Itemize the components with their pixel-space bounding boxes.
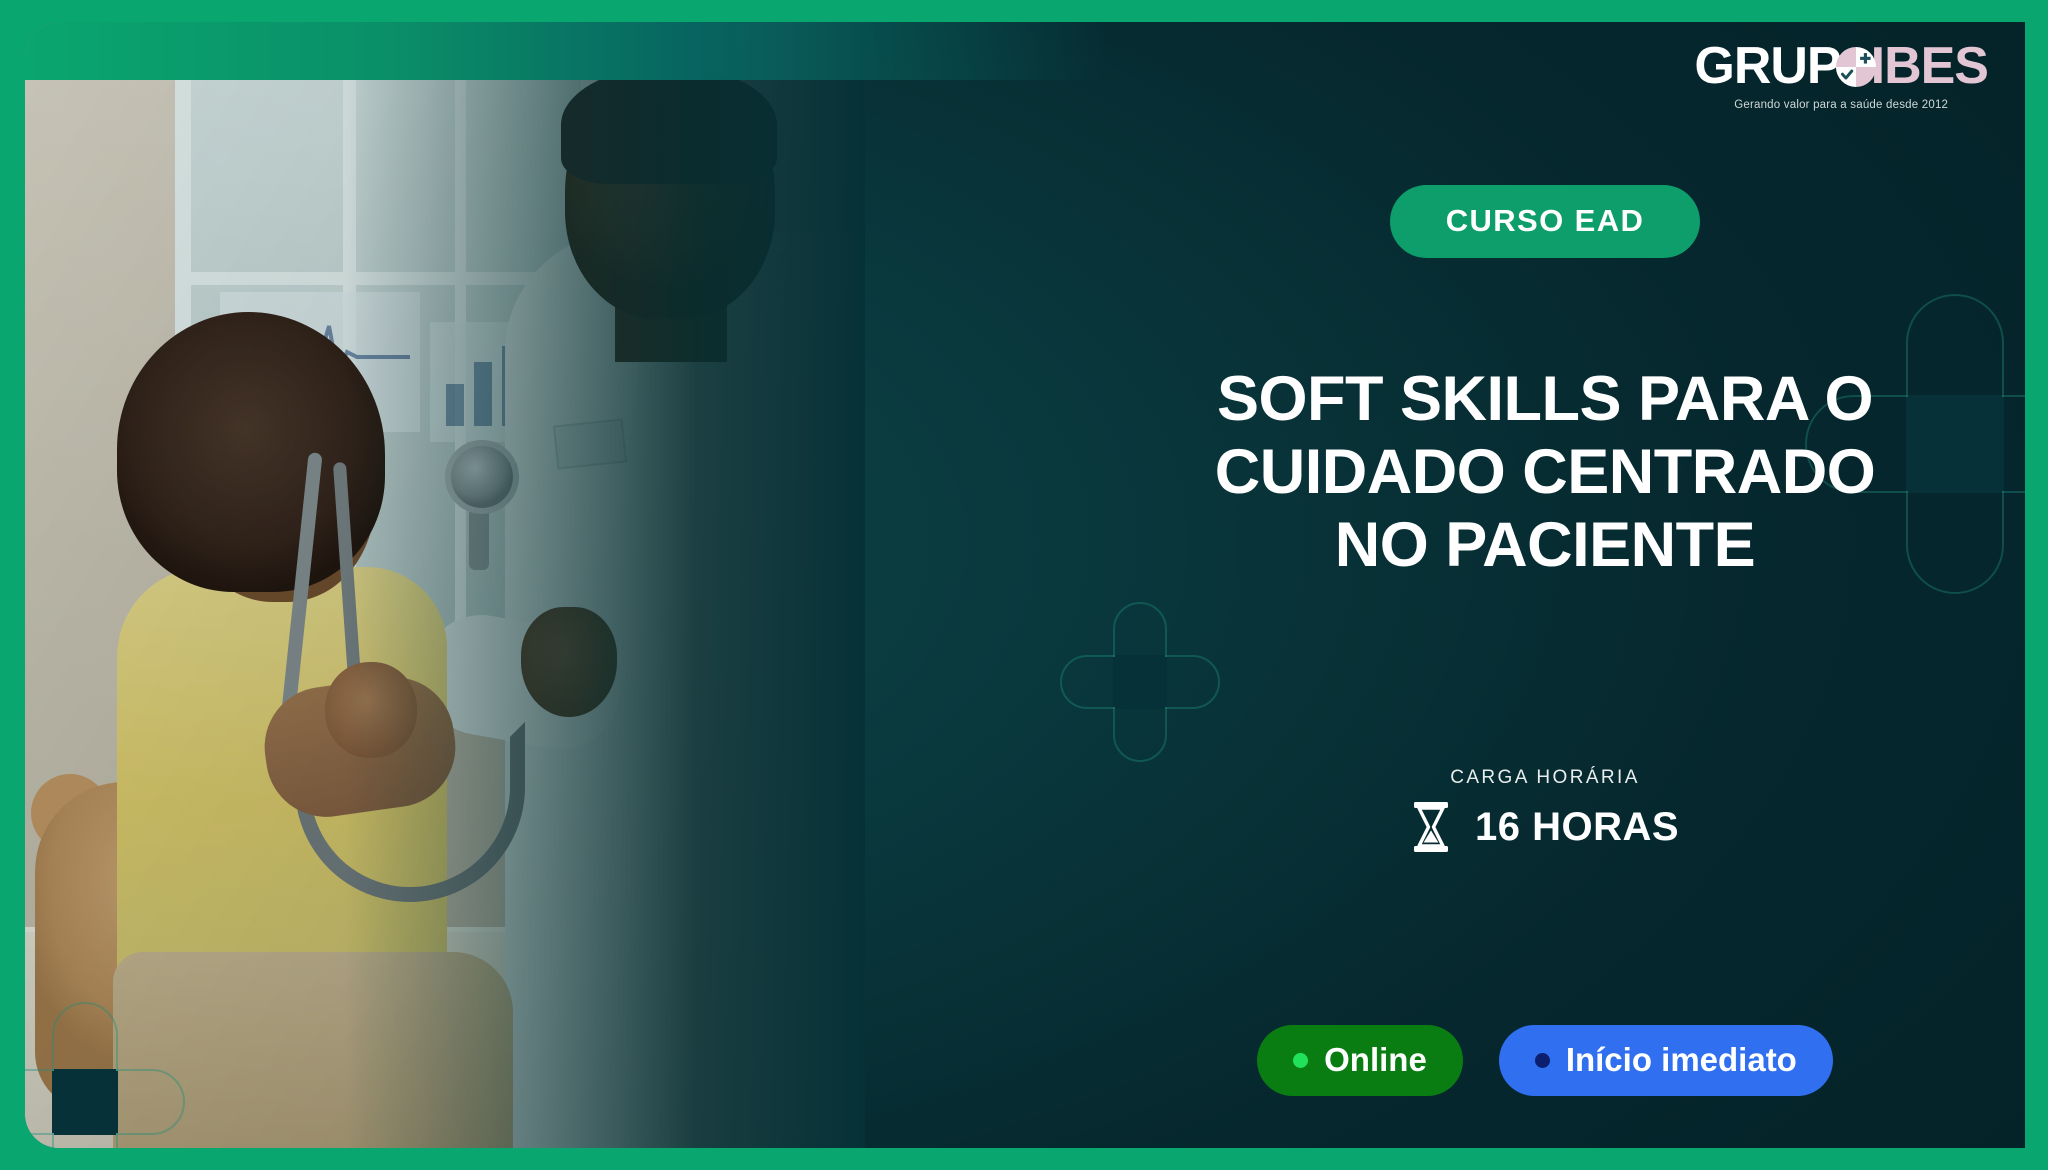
course-title-line-3: NO PACIENTE bbox=[1335, 510, 1755, 580]
plus-outline-icon bbox=[25, 1002, 185, 1148]
hero-photo bbox=[25, 22, 865, 1148]
workload-block: CARGA HORÁRIA 16 HORAS bbox=[1411, 767, 1679, 853]
pill-online[interactable]: Online bbox=[1257, 1025, 1463, 1096]
content-column: CURSO EAD SOFT SKILLS PARA O CUIDADO CEN… bbox=[1105, 22, 1985, 1148]
course-title-line-2: CUIDADO CENTRADO bbox=[1215, 437, 1875, 507]
course-promo-banner: GRUP IBES Gerando valor para a saúde des… bbox=[0, 0, 2048, 1170]
hourglass-icon bbox=[1411, 801, 1451, 853]
workload-value-row: 16 HORAS bbox=[1411, 801, 1679, 853]
pill-immediate-start-label: Início imediato bbox=[1566, 1041, 1797, 1079]
status-dot-start-icon bbox=[1535, 1053, 1550, 1068]
course-format-badge[interactable]: CURSO EAD bbox=[1390, 185, 1701, 258]
course-title: SOFT SKILLS PARA O CUIDADO CENTRADO NO P… bbox=[1215, 363, 1875, 582]
clinic-photo-illustration bbox=[25, 22, 865, 1148]
workload-label: CARGA HORÁRIA bbox=[1411, 767, 1679, 789]
course-attribute-pills: Online Início imediato bbox=[1105, 1025, 1985, 1096]
workload-value: 16 HORAS bbox=[1475, 805, 1679, 850]
photo-fade-overlay bbox=[25, 22, 865, 1148]
top-green-accent bbox=[25, 22, 1105, 80]
status-dot-online-icon bbox=[1293, 1053, 1308, 1068]
pill-online-label: Online bbox=[1324, 1041, 1427, 1079]
course-title-line-1: SOFT SKILLS PARA O bbox=[1217, 364, 1873, 434]
pill-immediate-start[interactable]: Início imediato bbox=[1499, 1025, 1833, 1096]
banner-canvas: GRUP IBES Gerando valor para a saúde des… bbox=[25, 22, 2025, 1148]
